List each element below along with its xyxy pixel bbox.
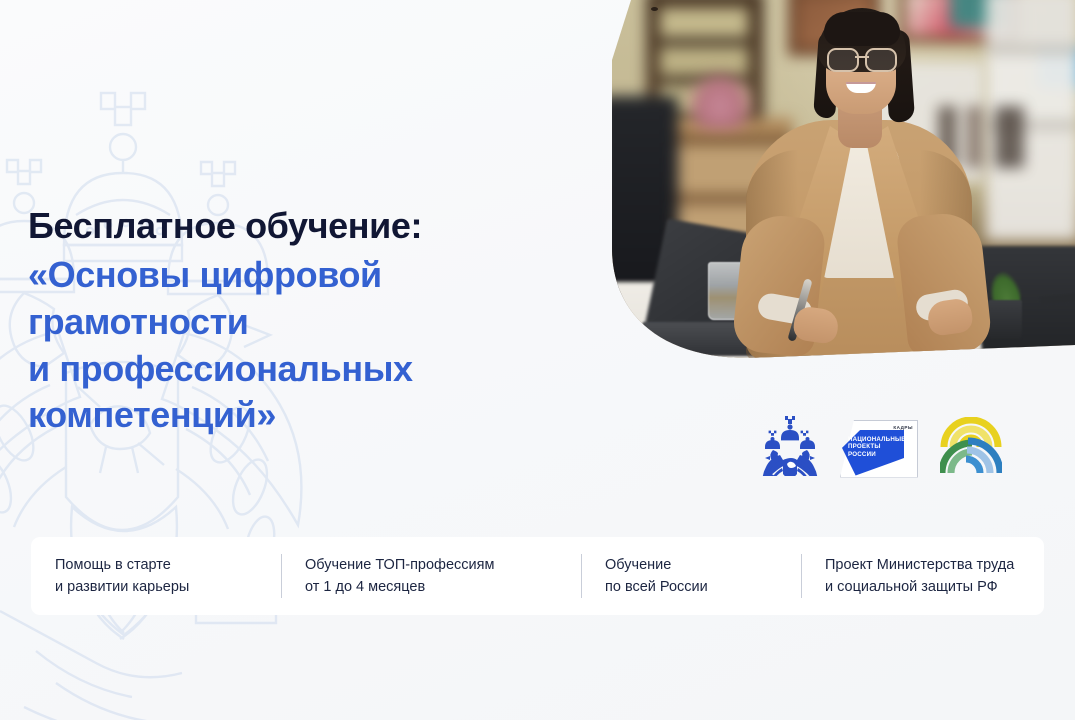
eye-left [608,7,615,11]
feature-4-line-1: Проект Министерства труда [825,554,1020,576]
rainbow-sun-logo [940,417,1002,480]
feature-2-line-2: от 1 до 4 месяцев [305,576,557,598]
arm-right [895,210,993,358]
national-projects-logo: КАДРЫ НАЦИОНАЛЬНЫЕ ПРОЕКТЫ РОССИИ [840,420,918,478]
headline-line-1: Бесплатное обучение: [28,205,588,246]
hair-fringe [824,12,900,46]
feature-item-career: Помощь в старте и развитии карьеры [31,554,281,599]
npr-kadry-label: КАДРЫ [893,425,913,430]
feature-bar: Помощь в старте и развитии карьеры Обуче… [31,537,1044,615]
headline-line-4: и профессиональных [28,346,588,393]
logo-row: КАДРЫ НАЦИОНАЛЬНЫЕ ПРОЕКТЫ РОССИИ [762,416,1002,481]
npr-title: НАЦИОНАЛЬНЫЕ ПРОЕКТЫ РОССИИ [848,436,906,459]
headline-line-5: компетенций» [28,392,588,439]
promo-banner: Бесплатное обучение: «Основы цифровой гр… [0,0,1075,720]
eyeglasses [827,48,897,68]
headline-line-3: грамотности [28,299,588,346]
npr-title-line-3: РОССИИ [848,451,906,459]
headline-title: «Основы цифровой грамотности и профессио… [28,252,588,439]
eye-right [651,7,658,11]
feature-1-line-2: и развитии карьеры [55,576,257,598]
photo-background [598,0,1075,360]
feature-item-coverage: Обучение по всей России [581,554,801,599]
feature-2-line-1: Обучение ТОП-профессиям [305,554,557,576]
feature-item-ministry: Проект Министерства труда и социальной з… [801,554,1044,599]
coat-of-arms-logo [762,416,818,481]
person [598,0,1075,360]
feature-3-line-1: Обучение [605,554,777,576]
feature-item-duration: Обучение ТОП-профессиям от 1 до 4 месяце… [281,554,581,599]
feature-4-line-2: и социальной защиты РФ [825,576,1020,598]
headline-line-2: «Основы цифровой [28,252,588,299]
npr-title-line-2: ПРОЕКТЫ [848,443,906,451]
eyeglass-lens-left [827,48,859,72]
eyeglass-lens-right [865,48,897,72]
headline: Бесплатное обучение: «Основы цифровой гр… [28,205,588,439]
feature-3-line-2: по всей России [605,576,777,598]
npr-title-line-1: НАЦИОНАЛЬНЫЕ [848,436,906,444]
eyeglass-bridge [855,56,869,58]
feature-1-line-1: Помощь в старте [55,554,257,576]
hero-photo [598,0,1075,360]
